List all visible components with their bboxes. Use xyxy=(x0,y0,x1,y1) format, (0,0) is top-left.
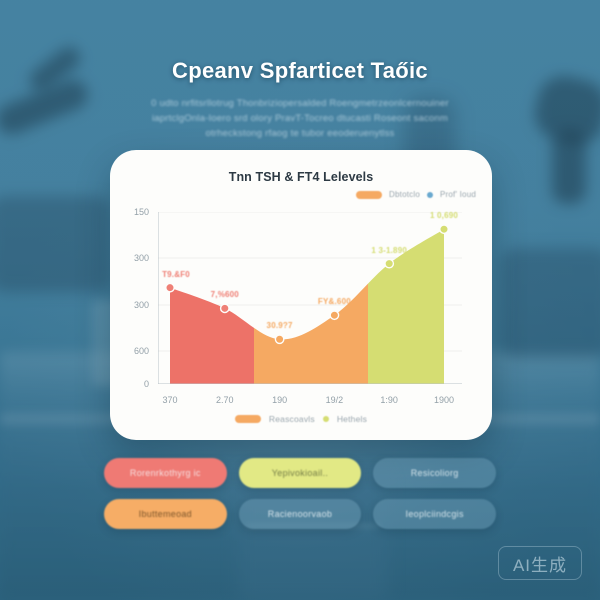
chart-title: Tnn TSH & FT4 Lelevels xyxy=(110,170,492,184)
pill-button-3[interactable]: Ibuttemeoad xyxy=(104,499,227,529)
chart-card: Tnn TSH & FT4 Lelevels Dbtotclo Prof' Io… xyxy=(110,150,492,440)
chart-data-point[interactable] xyxy=(330,311,338,319)
legend-label: Prof' Ioud xyxy=(440,190,476,199)
chart-data-label: 30.9?7 xyxy=(267,321,293,330)
legend-dot-icon xyxy=(427,192,433,198)
chart-y-tick-label: 300 xyxy=(134,253,149,263)
chart-x-tick-label: 190 xyxy=(272,395,287,405)
legend-label: Hethels xyxy=(337,414,367,424)
chart-x-tick-label: 1:90 xyxy=(380,395,398,405)
chart-data-label: 1 0,690 xyxy=(430,211,458,220)
pill-button-5[interactable]: Ieoplciindcgis xyxy=(373,499,496,529)
legend-dot-icon xyxy=(323,416,329,422)
chart-data-point[interactable] xyxy=(275,335,283,343)
chart-legend-bottom: Reascoavls Hethels xyxy=(110,414,492,424)
ai-generated-watermark: AI生成 xyxy=(498,546,582,580)
legend-swatch-icon xyxy=(235,415,261,423)
chart-data-point[interactable] xyxy=(166,283,174,291)
chart-y-tick-label: 600 xyxy=(134,346,149,356)
area-chart-svg xyxy=(158,212,462,384)
pill-button-4[interactable]: Racienoorvaob xyxy=(239,499,362,529)
chart-data-label: FY&.600 xyxy=(318,297,351,306)
chart-data-point[interactable] xyxy=(221,304,229,312)
chart-y-tick-label: 0 xyxy=(144,379,149,389)
pill-button-0[interactable]: Rorenrkothyrg ic xyxy=(104,458,227,488)
pill-button-1[interactable]: Yepivokioail.. xyxy=(239,458,362,488)
chart-y-tick-label: 150 xyxy=(134,207,149,217)
pill-button-group: Rorenrkothyrg icYepivokioail..Resicolior… xyxy=(104,458,496,529)
screenshot-root: Cpeanv Spfarticet Taőic 0 udto nrfitsrll… xyxy=(0,0,600,600)
pill-button-2[interactable]: Resicoliorg xyxy=(373,458,496,488)
chart-plot-area: 1503003006000 3702.7019019/21:901900 T9.… xyxy=(158,212,462,384)
chart-x-tick-label: 19/2 xyxy=(326,395,344,405)
chart-data-point[interactable] xyxy=(440,225,448,233)
chart-legend-top: Dbtotclo Prof' Ioud xyxy=(356,190,476,199)
chart-x-tick-label: 2.70 xyxy=(216,395,234,405)
legend-label: Dbtotclo xyxy=(389,190,420,199)
page-title: Cpeanv Spfarticet Taőic xyxy=(0,58,600,84)
chart-data-label: T9.&F0 xyxy=(162,270,190,279)
chart-x-tick-label: 1900 xyxy=(434,395,454,405)
chart-x-tick-label: 370 xyxy=(162,395,177,405)
chart-data-label: 1 3-1.890 xyxy=(371,246,407,255)
chart-data-point[interactable] xyxy=(385,259,393,267)
page-subtitle-line: iaprtclgOnla-Ioero srd olory PravT-Tocre… xyxy=(135,111,465,126)
header: Cpeanv Spfarticet Taőic 0 udto nrfitsrll… xyxy=(0,58,600,141)
chart-y-tick-label: 300 xyxy=(134,300,149,310)
page-subtitle-line: 0 udto nrfitsrllotrug Thonbriziopersalde… xyxy=(135,96,465,111)
legend-label: Reascoavls xyxy=(269,414,315,424)
legend-swatch-icon xyxy=(356,191,382,199)
page-subtitle-line: otrheckstong rfaog te tubor eeoderuenytl… xyxy=(135,126,465,141)
page-subtitle: 0 udto nrfitsrllotrug Thonbriziopersalde… xyxy=(135,96,465,141)
chart-data-label: 7,%600 xyxy=(211,290,239,299)
